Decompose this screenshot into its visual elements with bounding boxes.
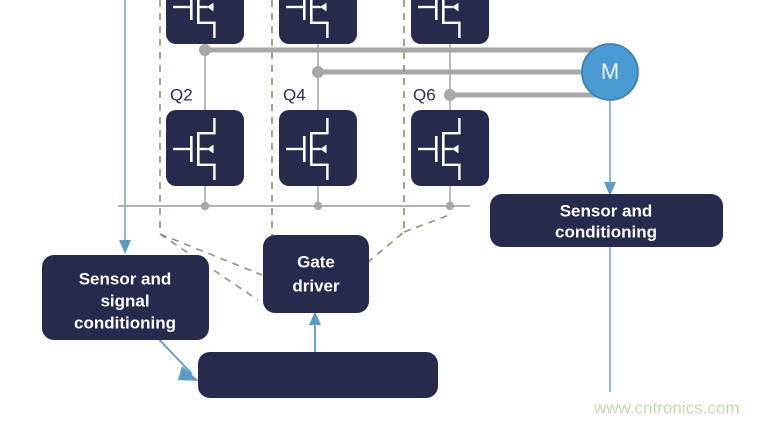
label-q6: Q6 [413, 85, 436, 104]
mosfet-q1-high-side[interactable] [166, 0, 244, 44]
block-sensor-right-line-2: conditioning [555, 222, 657, 241]
block-sensor-left-line-2: signal [100, 291, 149, 310]
watermark-text: www.cntronics.com [593, 398, 739, 417]
block-sensor-left-line-3: conditioning [74, 313, 176, 332]
block-sensor-left-line-1: Sensor and [79, 269, 172, 288]
motor-symbol[interactable]: M [582, 44, 638, 100]
diagram-canvas: Q2 Q4 Q6 M Sensor and signal conditionin… [0, 0, 773, 424]
phase-a-node [199, 44, 211, 56]
mosfet-q2-low-side[interactable] [166, 110, 244, 186]
block-sensor-left[interactable]: Sensor and signal conditioning [42, 255, 209, 340]
block-sensor-right[interactable]: Sensor and conditioning [490, 194, 723, 247]
phase-b-node [312, 66, 324, 78]
wire-phase-b [312, 66, 600, 78]
block-gate-driver[interactable]: Gate driver [263, 235, 369, 313]
motor-label: M [601, 59, 619, 84]
block-gate-driver-line-1: Gate [297, 252, 335, 271]
mosfet-q6-low-side[interactable] [411, 110, 489, 186]
wire-phase-c [444, 89, 600, 101]
motor-drive-schematic: Q2 Q4 Q6 M Sensor and signal conditionin… [0, 0, 773, 424]
wire-bottom-rail [118, 202, 470, 210]
mosfet-q4-low-side[interactable] [279, 110, 357, 186]
wire-motor-to-sensor-right [604, 100, 616, 196]
wire-phase-a [199, 44, 600, 56]
label-q2: Q2 [170, 85, 193, 104]
phase-c-node [444, 89, 456, 101]
wire-controller-to-gate-driver [309, 311, 321, 352]
mosfet-q5-high-side[interactable] [411, 0, 489, 44]
block-gate-driver-line-2: driver [292, 276, 340, 295]
block-controller-bottom[interactable] [198, 352, 438, 398]
block-sensor-right-line-1: Sensor and [560, 201, 653, 220]
label-q4: Q4 [283, 85, 306, 104]
mosfet-q3-high-side[interactable] [279, 0, 357, 44]
wire-left-vertical-feed [119, 0, 131, 254]
